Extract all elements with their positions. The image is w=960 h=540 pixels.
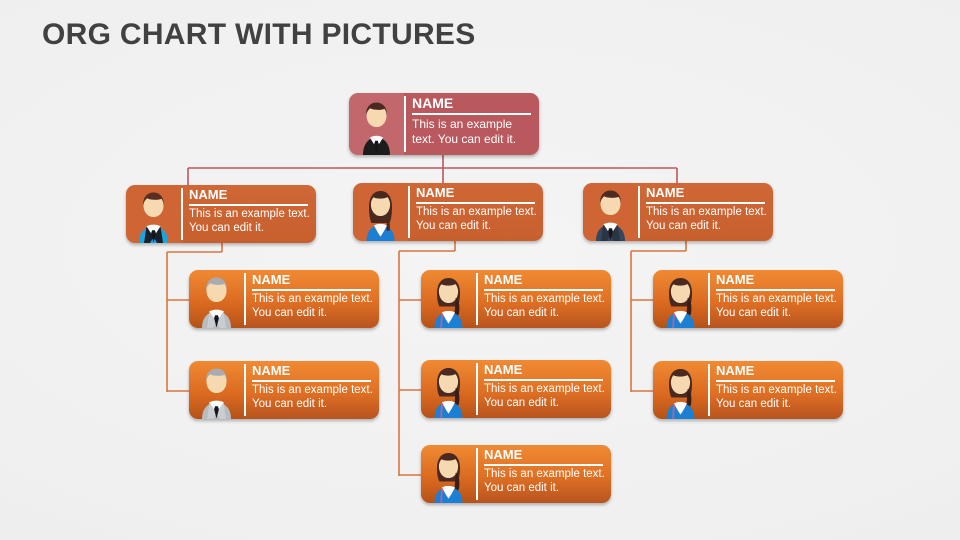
org-node-left-child-1-name: NAME <box>252 273 371 291</box>
org-node-middle-child-3-body: NAME This is an example text. You can ed… <box>476 445 611 503</box>
avatar-man-navy-suit <box>583 183 638 241</box>
avatar-senior-man-gray-suit <box>189 270 244 328</box>
org-node-middle-child-1-name: NAME <box>484 273 603 291</box>
org-node-right-child-2-name: NAME <box>716 364 835 382</box>
avatar-woman-long-hair <box>353 183 408 241</box>
org-node-branch-right-name: NAME <box>646 186 765 204</box>
org-node-middle-child-2[interactable]: NAME This is an example text. You can ed… <box>421 360 611 418</box>
org-node-root-name: NAME <box>412 96 531 115</box>
org-node-root-description: This is an example text. You can edit it… <box>412 115 533 145</box>
org-node-branch-left-body: NAME This is an example text. You can ed… <box>181 185 316 243</box>
org-node-right-child-1[interactable]: NAME This is an example text. You can ed… <box>653 270 843 328</box>
org-node-branch-right-body: NAME This is an example text. You can ed… <box>638 183 773 241</box>
org-node-branch-left-name: NAME <box>189 188 308 206</box>
org-node-right-child-2[interactable]: NAME This is an example text. You can ed… <box>653 361 843 419</box>
org-node-left-child-1-body: NAME This is an example text. You can ed… <box>244 270 379 328</box>
org-node-right-child-1-description: This is an example text. You can edit it… <box>716 291 837 320</box>
org-node-right-child-2-body: NAME This is an example text. You can ed… <box>708 361 843 419</box>
org-node-right-child-1-body: NAME This is an example text. You can ed… <box>708 270 843 328</box>
org-node-branch-left-description: This is an example text. You can edit it… <box>189 206 310 235</box>
page-title: ORG CHART WITH PICTURES <box>42 18 476 52</box>
org-node-right-child-2-description: This is an example text. You can edit it… <box>716 382 837 411</box>
avatar-woman-ponytail <box>421 445 476 503</box>
avatar-senior-man-gray-suit <box>189 361 244 419</box>
org-node-left-child-1[interactable]: NAME This is an example text. You can ed… <box>189 270 379 328</box>
org-node-root-body: NAME This is an example text. You can ed… <box>404 93 539 155</box>
org-node-middle-child-2-name: NAME <box>484 363 603 381</box>
org-node-middle-child-1[interactable]: NAME This is an example text. You can ed… <box>421 270 611 328</box>
avatar-man-blue-suit <box>126 185 181 243</box>
org-node-branch-right[interactable]: NAME This is an example text. You can ed… <box>583 183 773 241</box>
org-node-branch-middle-name: NAME <box>416 186 535 204</box>
avatar-man-black-suit <box>349 93 404 155</box>
avatar-woman-ponytail <box>421 270 476 328</box>
org-node-middle-child-2-description: This is an example text. You can edit it… <box>484 381 605 410</box>
org-node-middle-child-3-description: This is an example text. You can edit it… <box>484 466 605 495</box>
org-node-branch-middle-description: This is an example text. You can edit it… <box>416 204 537 233</box>
org-node-branch-left[interactable]: NAME This is an example text. You can ed… <box>126 185 316 243</box>
slide-canvas: ORG CHART WITH PICTURES <box>0 0 960 540</box>
avatar-woman-ponytail <box>653 361 708 419</box>
org-node-middle-child-3[interactable]: NAME This is an example text. You can ed… <box>421 445 611 503</box>
org-node-left-child-2-body: NAME This is an example text. You can ed… <box>244 361 379 419</box>
org-node-left-child-2-name: NAME <box>252 364 371 382</box>
org-node-right-child-1-name: NAME <box>716 273 835 291</box>
org-node-branch-middle-body: NAME This is an example text. You can ed… <box>408 183 543 241</box>
org-node-branch-right-description: This is an example text. You can edit it… <box>646 204 767 233</box>
org-node-left-child-1-description: This is an example text. You can edit it… <box>252 291 373 320</box>
avatar-woman-ponytail <box>653 270 708 328</box>
org-node-middle-child-3-name: NAME <box>484 448 603 466</box>
org-node-middle-child-1-body: NAME This is an example text. You can ed… <box>476 270 611 328</box>
avatar-woman-ponytail <box>421 360 476 418</box>
org-node-middle-child-2-body: NAME This is an example text. You can ed… <box>476 360 611 418</box>
org-node-left-child-2-description: This is an example text. You can edit it… <box>252 382 373 411</box>
org-node-left-child-2[interactable]: NAME This is an example text. You can ed… <box>189 361 379 419</box>
org-node-branch-middle[interactable]: NAME This is an example text. You can ed… <box>353 183 543 241</box>
org-node-middle-child-1-description: This is an example text. You can edit it… <box>484 291 605 320</box>
org-node-root[interactable]: NAME This is an example text. You can ed… <box>349 93 539 155</box>
